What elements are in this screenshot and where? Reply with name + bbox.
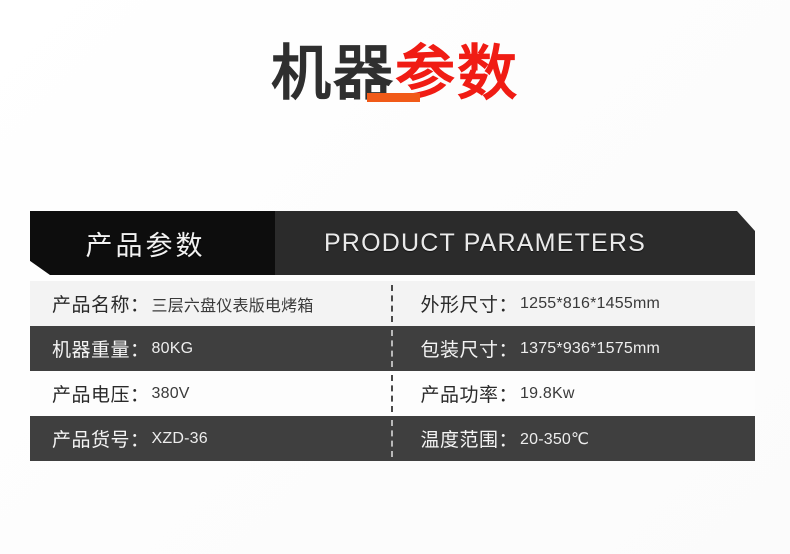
spec-cell-right: 外形尺寸： 1255*816*1455mm [393,281,756,326]
spec-label: 外形尺寸： [421,290,519,317]
table-row: 产品电压： 380V 产品功率： 19.8Kw [30,371,755,416]
spec-cell-left: 机器重量： 80KG [30,326,393,371]
spec-value: XZD-36 [152,430,208,448]
table-row: 机器重量： 80KG 包装尺寸： 1375*936*1575mm [30,326,755,371]
section-header-chinese-label: 产品参数 [86,224,206,263]
column-divider [391,330,393,367]
spec-value: 三层六盘仪表版电烤箱 [152,292,314,316]
section-header-english-label: PRODUCT PARAMETERS [324,229,646,258]
spec-value: 1375*936*1575mm [520,340,660,358]
column-divider [391,375,393,412]
spec-table: 产品名称： 三层六盘仪表版电烤箱 外形尺寸： 1255*816*1455mm 机… [30,281,755,461]
spec-cell-left: 产品电压： 380V [30,371,393,416]
spec-label: 机器重量： [52,335,150,362]
product-parameters-page: 机器参数 产品参数 PRODUCT PARAMETERS 产品名称： 三层六盘仪… [0,0,790,554]
spec-value: 1255*816*1455mm [520,295,660,313]
spec-label: 包装尺寸： [421,335,519,362]
spec-value: 19.8Kw [520,385,575,403]
column-divider [391,285,393,322]
title-underline-bar [367,93,420,102]
spec-cell-right: 包装尺寸： 1375*936*1575mm [393,326,756,371]
spec-label: 产品货号： [52,425,150,452]
table-row: 产品货号： XZD-36 温度范围： 20-350℃ [30,416,755,461]
spec-cell-right: 温度范围： 20-350℃ [393,416,756,461]
spec-value: 20-350℃ [520,429,589,449]
spec-cell-left: 产品货号： XZD-36 [30,416,393,461]
table-row: 产品名称： 三层六盘仪表版电烤箱 外形尺寸： 1255*816*1455mm [30,281,755,326]
column-divider [391,420,393,457]
spec-label: 产品名称： [52,290,150,317]
spec-cell-left: 产品名称： 三层六盘仪表版电烤箱 [30,281,393,326]
spec-label: 产品电压： [52,380,150,407]
spec-label: 温度范围： [421,425,519,452]
spec-value: 80KG [152,340,194,358]
spec-value: 380V [152,385,190,403]
section-header-bar: 产品参数 PRODUCT PARAMETERS [30,211,755,275]
spec-label: 产品功率： [421,380,519,407]
section-header-english: PRODUCT PARAMETERS [275,211,755,275]
section-header-chinese: 产品参数 [30,211,275,275]
spec-cell-right: 产品功率： 19.8Kw [393,371,756,416]
